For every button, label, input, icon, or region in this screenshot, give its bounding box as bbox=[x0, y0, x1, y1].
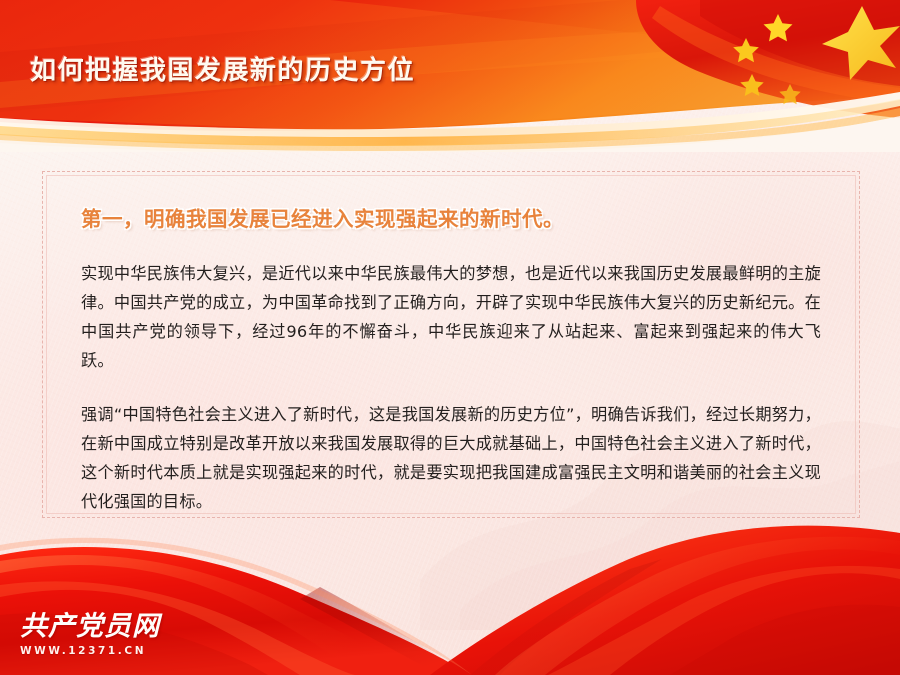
header-banner: 如何把握我国发展新的历史方位 bbox=[0, 0, 900, 152]
logo-url: WWW.12371.CN bbox=[20, 645, 170, 657]
body-paragraph-2: 强调“中国特色社会主义进入了新时代，这是我国发展新的历史方位”，明确告诉我们，经… bbox=[81, 400, 821, 516]
body-paragraph-1: 实现中华民族伟大复兴，是近代以来中华民族最伟大的梦想，也是近代以来我国历史发展最… bbox=[81, 259, 821, 375]
content-frame-inner: 第一，明确我国发展已经进入实现强起来的新时代。 实现中华民族伟大复兴，是近代以来… bbox=[46, 175, 856, 514]
poster-canvas: 如何把握我国发展新的历史方位 第一，明确我国发展已经进入实现强起来的新时代。 实… bbox=[0, 0, 900, 675]
logo-wordmark: 共产党员网 bbox=[20, 613, 170, 640]
page-title: 如何把握我国发展新的历史方位 bbox=[30, 50, 415, 87]
section-heading: 第一，明确我国发展已经进入实现强起来的新时代。 bbox=[81, 202, 821, 232]
site-logo[interactable]: 共产党员网 WWW.12371.CN bbox=[20, 613, 170, 657]
content-frame: 第一，明确我国发展已经进入实现强起来的新时代。 实现中华民族伟大复兴，是近代以来… bbox=[42, 171, 860, 518]
